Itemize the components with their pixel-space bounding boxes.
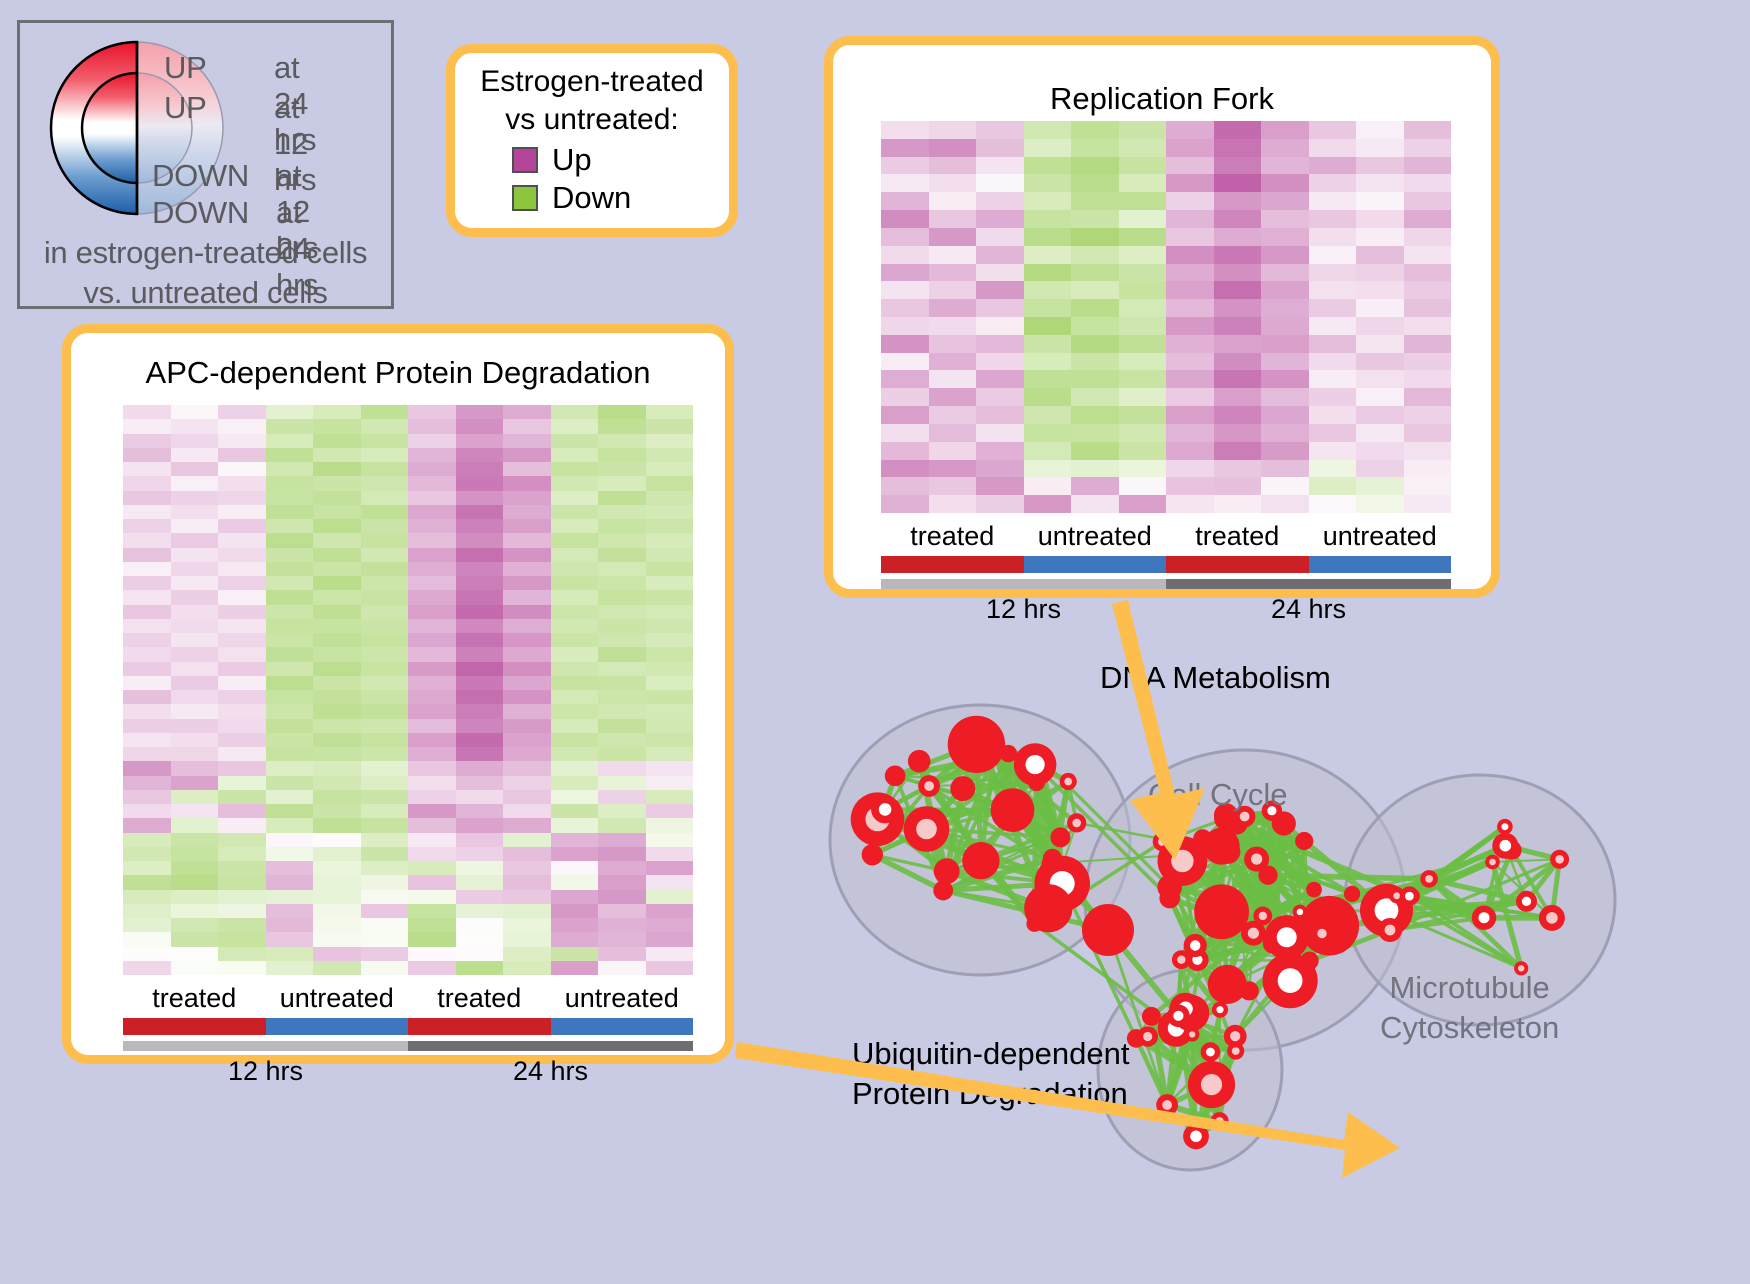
heatmap-cell	[1024, 442, 1072, 460]
heatmap-cell	[1404, 299, 1452, 317]
heatmap-cell	[123, 875, 171, 889]
heatmap-cell	[646, 419, 694, 433]
heatmap-cell	[598, 434, 646, 448]
group-label-untreated-12: untreated	[1024, 519, 1167, 553]
heatmap-cell	[1261, 228, 1309, 246]
heatmap-cell	[598, 833, 646, 847]
group-bar-treated-24	[1166, 556, 1309, 573]
heatmap-cell	[123, 619, 171, 633]
heatmap-cell	[598, 419, 646, 433]
group-label-treated-24: treated	[408, 981, 551, 1015]
heatmap-cell	[646, 790, 694, 804]
heatmap-cell	[456, 462, 504, 476]
network-node-core	[1278, 968, 1303, 993]
heatmap-cell	[551, 405, 599, 419]
heatmap-cell	[1356, 246, 1404, 264]
replication-fork-heatmap	[881, 121, 1451, 513]
heatmap-cell	[313, 662, 361, 676]
heatmap-cell	[646, 961, 694, 975]
heatmap-cell	[1024, 174, 1072, 192]
heatmap-cell	[123, 733, 171, 747]
network-node	[1306, 882, 1322, 898]
heatmap-cell	[1024, 460, 1072, 478]
heatmap-cell	[598, 647, 646, 661]
heatmap-cell	[646, 505, 694, 519]
heatmap-cell	[266, 918, 314, 932]
heatmap-cell	[171, 519, 219, 533]
heatmap-cell	[1214, 460, 1262, 478]
heatmap-cell	[408, 676, 456, 690]
heatmap-cell	[266, 947, 314, 961]
heatmap-cell	[1214, 495, 1262, 513]
group-labels-row: treated untreated treated untreated	[881, 519, 1451, 553]
heatmap-cell	[1261, 442, 1309, 460]
heatmap-cell	[551, 562, 599, 576]
group-bar-treated-12	[123, 1018, 266, 1035]
heatmap-cell	[1071, 388, 1119, 406]
heatmap-cell	[646, 947, 694, 961]
heatmap-cell	[598, 676, 646, 690]
heatmap-cell	[456, 519, 504, 533]
apc-degradation-panel: APC-dependent Protein Degradation treate…	[62, 324, 734, 1064]
heatmap-cell	[503, 961, 551, 975]
heatmap-cell	[123, 818, 171, 832]
heatmap-cell	[361, 533, 409, 547]
heatmap-cell	[123, 476, 171, 490]
heatmap-cell	[976, 353, 1024, 371]
heatmap-cell	[171, 505, 219, 519]
heatmap-cell	[408, 947, 456, 961]
heatmap-cell	[1119, 121, 1167, 139]
heatmap-cell	[929, 139, 977, 157]
apc-axis: treated untreated treated untreated 12 h…	[123, 981, 693, 1089]
heatmap-cell	[408, 847, 456, 861]
heatmap-cell	[1024, 264, 1072, 282]
heatmap-cell	[218, 519, 266, 533]
heatmap-cell	[976, 335, 1024, 353]
heatmap-cell	[408, 662, 456, 676]
cluster-label-dna-metabolism: DNA Metabolism	[1100, 658, 1331, 698]
heatmap-cell	[551, 491, 599, 505]
legend-label-down: Down	[552, 181, 631, 215]
heatmap-cell	[218, 548, 266, 562]
heatmap-cell	[881, 477, 929, 495]
heatmap-cell	[123, 548, 171, 562]
heatmap-cell	[313, 747, 361, 761]
heatmap-cell	[1166, 442, 1214, 460]
heatmap-cell	[266, 904, 314, 918]
heatmap-cell	[218, 861, 266, 875]
heatmap-cell	[456, 847, 504, 861]
heatmap-cell	[976, 317, 1024, 335]
heatmap-cell	[456, 405, 504, 419]
heatmap-cell	[408, 861, 456, 875]
heatmap-cell	[598, 961, 646, 975]
heatmap-cell	[1119, 335, 1167, 353]
heatmap-cell	[1214, 424, 1262, 442]
heatmap-cell	[551, 704, 599, 718]
heatmap-cell	[123, 491, 171, 505]
heatmap-cell	[218, 419, 266, 433]
heatmap-cell	[218, 804, 266, 818]
heatmap-cell	[456, 747, 504, 761]
heatmap-cell	[1024, 317, 1072, 335]
heatmap-cell	[551, 804, 599, 818]
heatmap-cell	[976, 495, 1024, 513]
heatmap-cell	[598, 476, 646, 490]
network-node-core	[1201, 1074, 1222, 1095]
heatmap-cell	[1119, 157, 1167, 175]
heatmap-cell	[218, 576, 266, 590]
heatmap-cell	[881, 121, 929, 139]
heatmap-cell	[456, 619, 504, 633]
heatmap-cell	[646, 918, 694, 932]
heatmap-cell	[1214, 370, 1262, 388]
heatmap-cell	[266, 747, 314, 761]
group-labels-row: treated untreated treated untreated	[123, 981, 693, 1015]
heatmap-cell	[646, 861, 694, 875]
heatmap-cell	[1166, 477, 1214, 495]
heatmap-cell	[881, 424, 929, 442]
heatmap-cell	[218, 605, 266, 619]
heatmap-cell	[171, 405, 219, 419]
network-node	[1082, 904, 1134, 956]
network-node-core	[1297, 909, 1304, 916]
heatmap-cell	[1309, 335, 1357, 353]
heatmap-cell	[171, 961, 219, 975]
heatmap-cell	[408, 633, 456, 647]
heatmap-cell	[313, 961, 361, 975]
heatmap-cell	[503, 405, 551, 419]
heatmap-cell	[1071, 281, 1119, 299]
heatmap-cell	[1261, 281, 1309, 299]
heatmap-cell	[361, 790, 409, 804]
heatmap-cell	[361, 576, 409, 590]
heatmap-cell	[1024, 246, 1072, 264]
heatmap-cell	[1261, 139, 1309, 157]
legend-item-up: Up	[512, 143, 672, 177]
network-node	[1300, 896, 1360, 956]
heatmap-cell	[218, 818, 266, 832]
heatmap-cell	[123, 405, 171, 419]
heatmap-cell	[503, 619, 551, 633]
heatmap-cell	[361, 633, 409, 647]
heatmap-cell	[361, 847, 409, 861]
heatmap-cell	[408, 890, 456, 904]
network-node-core	[1162, 1100, 1172, 1110]
heatmap-cell	[1166, 264, 1214, 282]
heatmap-cell	[361, 747, 409, 761]
network-node	[885, 766, 906, 787]
heatmap-cell	[646, 434, 694, 448]
heatmap-cell	[218, 562, 266, 576]
heatmap-cell	[1309, 264, 1357, 282]
heatmap-cell	[503, 647, 551, 661]
heatmap-cell	[646, 733, 694, 747]
legend-item-down: Down	[512, 181, 672, 215]
heatmap-cell	[266, 448, 314, 462]
heatmap-cell	[1119, 317, 1167, 335]
heatmap-cell	[171, 562, 219, 576]
heatmap-cell	[1024, 370, 1072, 388]
heatmap-cell	[171, 918, 219, 932]
heatmap-cell	[266, 890, 314, 904]
heatmap-cell	[456, 918, 504, 932]
heatmap-cell	[123, 505, 171, 519]
heatmap-cell	[1356, 174, 1404, 192]
heatmap-cell	[266, 875, 314, 889]
heatmap-cell	[551, 932, 599, 946]
heatmap-cell	[1309, 210, 1357, 228]
heatmap-cell	[646, 491, 694, 505]
heatmap-cell	[1024, 228, 1072, 246]
heatmap-cell	[1261, 299, 1309, 317]
network-node	[1216, 839, 1240, 863]
heatmap-cell	[551, 647, 599, 661]
heatmap-cell	[1071, 157, 1119, 175]
time-label-24hrs: 24 hrs	[408, 1053, 693, 1089]
group-bar-untreated-24	[1309, 556, 1452, 573]
heatmap-cell	[503, 918, 551, 932]
heatmap-cell	[266, 548, 314, 562]
heatmap-cell	[1119, 460, 1167, 478]
heatmap-cell	[171, 875, 219, 889]
heatmap-cell	[1166, 424, 1214, 442]
heatmap-cell	[408, 647, 456, 661]
heatmap-cell	[976, 192, 1024, 210]
heatmap-cell	[598, 562, 646, 576]
heatmap-cell	[503, 491, 551, 505]
heatmap-cell	[551, 548, 599, 562]
heatmap-cell	[123, 533, 171, 547]
heatmap-cell	[361, 804, 409, 818]
network-node-core	[1522, 897, 1531, 906]
network-node-core	[1189, 1031, 1195, 1037]
heatmap-cell	[218, 947, 266, 961]
heatmap-cell	[408, 818, 456, 832]
network-node-core	[1026, 755, 1045, 774]
heatmap-cell	[1166, 495, 1214, 513]
heatmap-cell	[218, 918, 266, 932]
heatmap-cell	[598, 747, 646, 761]
heatmap-cell	[881, 370, 929, 388]
heatmap-cell	[408, 590, 456, 604]
heatmap-cell	[503, 690, 551, 704]
heatmap-cell	[1071, 121, 1119, 139]
heatmap-cell	[361, 947, 409, 961]
network-node-core	[1259, 912, 1267, 920]
network-node-core	[1277, 927, 1297, 947]
heatmap-cell	[1119, 264, 1167, 282]
heatmap-cell	[598, 704, 646, 718]
time-label-12hrs: 12 hrs	[123, 1053, 408, 1089]
network-node-core	[1405, 892, 1414, 901]
heatmap-cell	[646, 932, 694, 946]
heatmap-cell	[456, 947, 504, 961]
heatmap-cell	[1024, 157, 1072, 175]
heatmap-cell	[266, 605, 314, 619]
heatmap-cell	[1404, 157, 1452, 175]
heatmap-cell	[456, 776, 504, 790]
heatmap-cell	[313, 434, 361, 448]
time-labels-row: 12 hrs 24 hrs	[123, 1053, 693, 1089]
heatmap-cell	[1024, 299, 1072, 317]
heatmap-cell	[408, 533, 456, 547]
heatmap-cell	[1214, 264, 1262, 282]
heatmap-cell	[456, 448, 504, 462]
heatmap-cell	[218, 747, 266, 761]
heatmap-cell	[598, 405, 646, 419]
heatmap-cell	[1166, 246, 1214, 264]
heatmap-cell	[361, 647, 409, 661]
heatmap-cell	[218, 847, 266, 861]
heatmap-cell	[171, 491, 219, 505]
color-key-box: UP at 24 hrs UP at 12 hrs DOWN at 12 hrs…	[17, 20, 394, 309]
heatmap-cell	[218, 619, 266, 633]
heatmap-cell	[313, 704, 361, 718]
heatmap-cell	[313, 590, 361, 604]
heatmap-cell	[408, 405, 456, 419]
heatmap-cell	[646, 875, 694, 889]
heatmap-cell	[1071, 460, 1119, 478]
heatmap-cell	[361, 761, 409, 775]
heatmap-cell	[1214, 174, 1262, 192]
heatmap-cell	[929, 317, 977, 335]
heatmap-cell	[1404, 281, 1452, 299]
heatmap-cell	[881, 210, 929, 228]
network-node-core	[1190, 940, 1200, 950]
heatmap-cell	[598, 619, 646, 633]
network-node-core	[1230, 1031, 1240, 1041]
network-node-core	[916, 819, 937, 840]
heatmap-cell	[218, 790, 266, 804]
heatmap-cell	[1404, 477, 1452, 495]
heatmap-cell	[1261, 121, 1309, 139]
heatmap-cell	[1214, 121, 1262, 139]
heatmap-cell	[1166, 353, 1214, 371]
heatmap-cell	[976, 139, 1024, 157]
heatmap-cell	[408, 434, 456, 448]
heatmap-cell	[171, 719, 219, 733]
heatmap-cell	[1119, 442, 1167, 460]
heatmap-cell	[218, 690, 266, 704]
heatmap-cell	[1404, 264, 1452, 282]
heatmap-cell	[456, 605, 504, 619]
heatmap-cell	[598, 533, 646, 547]
heatmap-cell	[1309, 139, 1357, 157]
heatmap-cell	[456, 704, 504, 718]
heatmap-cell	[123, 519, 171, 533]
heatmap-cell	[361, 875, 409, 889]
network-node-core	[1206, 1048, 1215, 1057]
heatmap-cell	[1309, 424, 1357, 442]
heatmap-cell	[218, 462, 266, 476]
network-node-core	[1216, 1117, 1224, 1125]
network-node	[1344, 886, 1360, 902]
cluster-label-ubiquitin-degradation: Ubiquitin-dependentProtein Degradation	[852, 1034, 1130, 1114]
network-node-core	[1501, 823, 1508, 830]
group-color-bar	[123, 1018, 693, 1035]
heatmap-cell	[361, 619, 409, 633]
heatmap-cell	[313, 462, 361, 476]
heatmap-cell	[929, 353, 977, 371]
heatmap-cell	[456, 961, 504, 975]
group-bar-treated-12	[881, 556, 1024, 573]
heatmap-cell	[503, 804, 551, 818]
heatmap-cell	[171, 676, 219, 690]
heatmap-cell	[503, 462, 551, 476]
heatmap-cell	[1309, 281, 1357, 299]
heatmap-cell	[1261, 370, 1309, 388]
heatmap-cell	[1214, 477, 1262, 495]
heatmap-cell	[1214, 228, 1262, 246]
network-node	[862, 844, 883, 865]
network-node	[991, 788, 1035, 832]
legend-panel: Estrogen-treated vs untreated: Up Down	[446, 44, 738, 237]
heatmap-cell	[1071, 406, 1119, 424]
heatmap-cell	[313, 733, 361, 747]
heatmap-cell	[408, 918, 456, 932]
legend-title-line1: Estrogen-treated	[480, 63, 703, 101]
heatmap-cell	[408, 704, 456, 718]
heatmap-cell	[266, 818, 314, 832]
heatmap-cell	[1214, 246, 1262, 264]
heatmap-cell	[598, 548, 646, 562]
heatmap-cell	[929, 495, 977, 513]
network-node-core	[1317, 929, 1326, 938]
heatmap-cell	[1309, 299, 1357, 317]
heatmap-cell	[218, 733, 266, 747]
heatmap-cell	[1024, 335, 1072, 353]
heatmap-cell	[598, 861, 646, 875]
heatmap-cell	[503, 519, 551, 533]
heatmap-cell	[123, 676, 171, 690]
heatmap-cell	[646, 476, 694, 490]
network-node	[1043, 849, 1062, 868]
heatmap-cell	[1214, 353, 1262, 371]
heatmap-cell	[408, 690, 456, 704]
heatmap-cell	[598, 890, 646, 904]
heatmap-cell	[171, 533, 219, 547]
heatmap-cell	[1214, 406, 1262, 424]
heatmap-cell	[929, 246, 977, 264]
heatmap-cell	[503, 747, 551, 761]
heatmap-cell	[503, 562, 551, 576]
heatmap-cell	[551, 590, 599, 604]
heatmap-cell	[1404, 192, 1452, 210]
heatmap-cell	[1356, 157, 1404, 175]
heatmap-cell	[1356, 424, 1404, 442]
heatmap-cell	[171, 833, 219, 847]
network-graph	[790, 600, 1750, 1279]
group-label-treated-24: treated	[1166, 519, 1309, 553]
heatmap-cell	[313, 533, 361, 547]
heatmap-cell	[313, 405, 361, 419]
heatmap-cell	[1024, 281, 1072, 299]
heatmap-cell	[408, 961, 456, 975]
heatmap-cell	[123, 904, 171, 918]
heatmap-cell	[123, 747, 171, 761]
heatmap-cell	[1119, 424, 1167, 442]
heatmap-cell	[313, 818, 361, 832]
heatmap-cell	[551, 519, 599, 533]
heatmap-cell	[503, 847, 551, 861]
heatmap-cell	[171, 419, 219, 433]
heatmap-cell	[266, 633, 314, 647]
heatmap-cell	[1309, 495, 1357, 513]
heatmap-cell	[1404, 495, 1452, 513]
heatmap-cell	[408, 733, 456, 747]
